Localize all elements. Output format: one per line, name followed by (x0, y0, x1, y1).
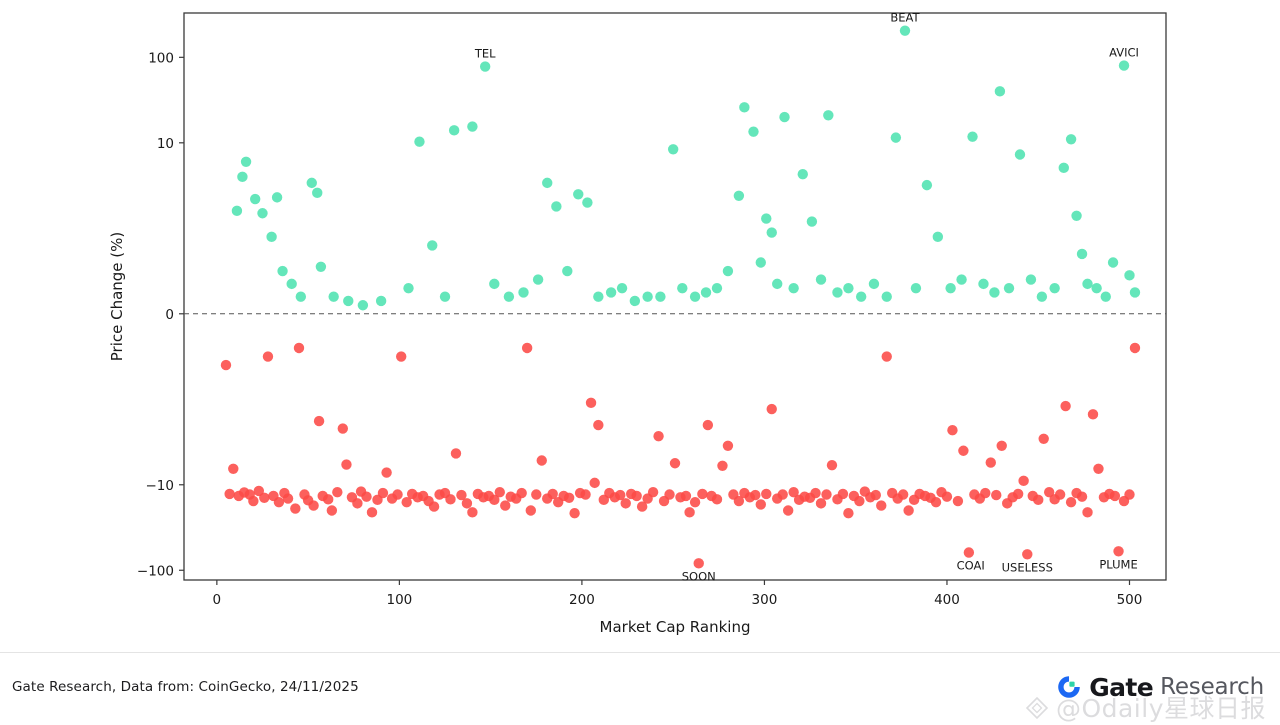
data-point (564, 493, 574, 503)
data-point (381, 467, 391, 477)
data-point (263, 351, 273, 361)
point-annotation-tel: TEL (474, 47, 496, 61)
data-point (989, 287, 999, 297)
data-point (701, 287, 711, 297)
data-point (1088, 409, 1098, 419)
data-point (767, 227, 777, 237)
data-point (816, 274, 826, 284)
data-point (1049, 283, 1059, 293)
data-point (1124, 270, 1134, 280)
data-point (1018, 476, 1028, 486)
data-point (617, 283, 627, 293)
data-point (533, 274, 543, 284)
data-point (376, 296, 386, 306)
data-point (257, 208, 267, 218)
gate-research-logo: Gate Research (1056, 670, 1264, 704)
y-tick-label: 100 (148, 50, 174, 66)
data-point (653, 431, 663, 441)
data-point (995, 86, 1005, 96)
data-point (642, 291, 652, 301)
data-point (427, 240, 437, 250)
data-point (451, 448, 461, 458)
data-point (237, 172, 247, 182)
data-point (312, 188, 322, 198)
data-point (900, 25, 910, 35)
data-point (882, 351, 892, 361)
data-point (703, 420, 713, 430)
data-point (772, 279, 782, 289)
data-point (739, 102, 749, 112)
data-point (788, 283, 798, 293)
data-point (392, 489, 402, 499)
y-tick-label: −100 (137, 563, 174, 579)
data-point (958, 446, 968, 456)
data-point (352, 498, 362, 508)
data-point (531, 489, 541, 499)
data-point (1101, 291, 1111, 301)
data-point (573, 189, 583, 199)
data-point (221, 360, 231, 370)
data-point (569, 508, 579, 518)
data-point (723, 266, 733, 276)
x-tick-label: 300 (752, 592, 778, 608)
data-point (997, 441, 1007, 451)
data-point (1077, 492, 1087, 502)
data-point (403, 283, 413, 293)
data-point (630, 296, 640, 306)
data-point (467, 121, 477, 131)
data-point (1113, 546, 1123, 556)
data-point (542, 178, 552, 188)
data-point (712, 494, 722, 504)
data-point (761, 489, 771, 499)
data-point (489, 279, 499, 289)
data-point (1013, 489, 1023, 499)
data-point (798, 169, 808, 179)
data-point (1059, 163, 1069, 173)
data-point (429, 501, 439, 511)
data-point (783, 505, 793, 515)
data-point (816, 498, 826, 508)
data-point (767, 404, 777, 414)
data-point (266, 232, 276, 242)
data-point (717, 461, 727, 471)
data-point (1130, 343, 1140, 353)
x-tick-label: 500 (1117, 592, 1143, 608)
data-point (582, 197, 592, 207)
data-point (449, 125, 459, 135)
source-attribution: Gate Research, Data from: CoinGecko, 24/… (12, 679, 359, 695)
data-point (522, 343, 532, 353)
data-point (327, 505, 337, 515)
data-point (823, 110, 833, 120)
data-point (697, 489, 707, 499)
data-point (500, 500, 510, 510)
data-point (821, 489, 831, 499)
data-point (228, 464, 238, 474)
data-point (1039, 434, 1049, 444)
x-tick-label: 0 (213, 592, 222, 608)
point-annotation-beat: BEAT (890, 11, 920, 25)
data-point (1071, 211, 1081, 221)
data-point (903, 505, 913, 515)
data-point (445, 494, 455, 504)
data-point (681, 491, 691, 501)
data-point (294, 343, 304, 353)
chart-figure: 100100−10−1000100200300400500Market Cap … (0, 0, 1280, 652)
data-point (1055, 489, 1065, 499)
data-point (1110, 491, 1120, 501)
data-point (1022, 549, 1032, 559)
data-point (1004, 283, 1014, 293)
data-point (328, 291, 338, 301)
data-point (586, 398, 596, 408)
odaily-diamond-icon (1024, 695, 1050, 721)
x-tick-label: 400 (934, 592, 960, 608)
data-point (1037, 291, 1047, 301)
data-point (467, 507, 477, 517)
data-point (272, 192, 282, 202)
data-point (232, 206, 242, 216)
data-point (606, 287, 616, 297)
data-point (1077, 249, 1087, 259)
data-point (1082, 507, 1092, 517)
data-point (670, 458, 680, 468)
data-point (694, 558, 704, 568)
data-point (1082, 279, 1092, 289)
data-point (248, 496, 258, 506)
data-point (361, 492, 371, 502)
data-point (343, 296, 353, 306)
data-point (807, 216, 817, 226)
y-tick-label: 10 (157, 136, 174, 152)
data-point (978, 279, 988, 289)
data-point (856, 291, 866, 301)
data-point (810, 488, 820, 498)
data-point (593, 291, 603, 301)
data-point (779, 112, 789, 122)
scatter-plot: 100100−10−1000100200300400500Market Cap … (0, 0, 1280, 652)
data-point (338, 423, 348, 433)
data-point (911, 283, 921, 293)
data-point (504, 291, 514, 301)
data-point (690, 497, 700, 507)
data-point (440, 291, 450, 301)
data-point (854, 496, 864, 506)
data-point (1124, 489, 1134, 499)
data-point (750, 490, 760, 500)
data-point (843, 283, 853, 293)
data-point (1033, 495, 1043, 505)
data-point (734, 191, 744, 201)
point-annotation-plume: PLUME (1099, 557, 1137, 571)
data-point (967, 131, 977, 141)
data-point (953, 496, 963, 506)
data-point (690, 291, 700, 301)
data-point (224, 489, 234, 499)
data-point (838, 489, 848, 499)
data-point (1119, 60, 1129, 70)
data-point (869, 279, 879, 289)
data-point (1091, 283, 1101, 293)
data-point (876, 500, 886, 510)
point-annotation-avici: AVICI (1109, 46, 1139, 60)
data-point (756, 257, 766, 267)
data-point (827, 460, 837, 470)
data-point (589, 478, 599, 488)
data-point (526, 505, 536, 515)
data-point (942, 492, 952, 502)
data-point (314, 416, 324, 426)
data-point (250, 194, 260, 204)
data-point (396, 351, 406, 361)
data-point (358, 300, 368, 310)
x-axis-label: Market Cap Ranking (600, 618, 751, 636)
data-point (580, 489, 590, 499)
data-point (562, 266, 572, 276)
data-point (1066, 497, 1076, 507)
data-point (664, 489, 674, 499)
point-annotation-coai: COAI (957, 559, 985, 573)
data-point (621, 498, 631, 508)
data-point (1060, 401, 1070, 411)
data-point (756, 499, 766, 509)
data-point (991, 490, 1001, 500)
data-point (712, 283, 722, 293)
data-point (684, 507, 694, 517)
data-point (668, 144, 678, 154)
data-point (480, 61, 490, 71)
data-point (341, 459, 351, 469)
data-point (323, 494, 333, 504)
footer-bar: Gate Research, Data from: CoinGecko, 24/… (0, 652, 1280, 725)
brand-gate-text: Gate (1089, 675, 1153, 700)
data-point (931, 497, 941, 507)
data-point (593, 420, 603, 430)
data-point (537, 455, 547, 465)
y-tick-label: −10 (146, 478, 175, 494)
x-tick-label: 100 (386, 592, 412, 608)
point-annotation-soon: SOON (682, 569, 716, 583)
y-axis-label: Price Change (%) (108, 232, 126, 362)
x-tick-label: 200 (569, 592, 595, 608)
data-point (986, 457, 996, 467)
gate-logo-icon (1056, 674, 1082, 700)
data-point (947, 425, 957, 435)
data-point (648, 487, 658, 497)
data-point (286, 279, 296, 289)
data-point (367, 507, 377, 517)
data-point (964, 547, 974, 557)
data-point (933, 232, 943, 242)
data-point (259, 493, 269, 503)
data-point (761, 213, 771, 223)
point-annotation-useless: USELESS (1002, 560, 1053, 574)
data-point (290, 503, 300, 513)
data-point (277, 266, 287, 276)
data-point (1108, 257, 1118, 267)
data-point (723, 441, 733, 451)
data-point (414, 137, 424, 147)
data-point (631, 491, 641, 501)
data-point (518, 287, 528, 297)
data-point (898, 489, 908, 499)
data-point (241, 157, 251, 167)
data-point (296, 291, 306, 301)
data-point (677, 283, 687, 293)
data-point (956, 274, 966, 284)
data-point (516, 488, 526, 498)
data-point (891, 132, 901, 142)
data-point (283, 493, 293, 503)
data-point (843, 508, 853, 518)
data-point (922, 180, 932, 190)
y-tick-label: 0 (165, 307, 174, 323)
data-point (1026, 274, 1036, 284)
data-point (945, 283, 955, 293)
data-point (1093, 464, 1103, 474)
data-point (316, 262, 326, 272)
data-point (551, 201, 561, 211)
data-point (332, 487, 342, 497)
data-point (1066, 134, 1076, 144)
data-point (307, 178, 317, 188)
data-point (495, 487, 505, 497)
data-point (274, 497, 284, 507)
data-point (871, 490, 881, 500)
data-point (308, 500, 318, 510)
data-point (882, 291, 892, 301)
brand-research-text: Research (1160, 676, 1264, 699)
data-point (748, 126, 758, 136)
data-point (378, 488, 388, 498)
data-point (980, 488, 990, 498)
data-point (1130, 287, 1140, 297)
data-point (1015, 149, 1025, 159)
data-point (832, 287, 842, 297)
data-point (655, 291, 665, 301)
data-point (462, 498, 472, 508)
data-point (777, 489, 787, 499)
